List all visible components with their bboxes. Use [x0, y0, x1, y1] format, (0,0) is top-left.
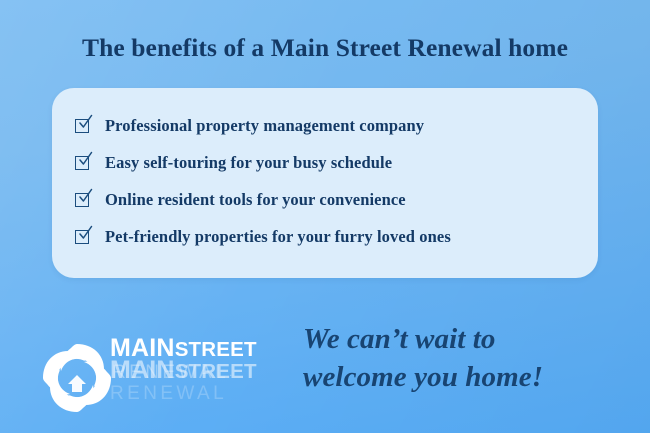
renewal-period: . — [229, 367, 235, 379]
wordmark-main: MAIN — [110, 334, 175, 362]
list-item-label: Easy self-touring for your busy schedule — [105, 155, 392, 172]
list-item: Online resident tools for your convenien… — [52, 182, 598, 219]
checkbox-checked-icon — [75, 155, 92, 172]
list-item-label: Online resident tools for your convenien… — [105, 192, 406, 209]
benefits-list: Professional property management company… — [52, 108, 598, 256]
list-item: Easy self-touring for your busy schedule — [52, 145, 598, 182]
brand-wordmark: MAINSTREET RENEWAL. — [110, 336, 290, 361]
tagline-line-2: welcome you home! — [303, 359, 543, 397]
page-title: The benefits of a Main Street Renewal ho… — [0, 33, 650, 63]
brand-logo: MAINSTREET RENEWAL MAINSTREET RENEWAL. — [38, 332, 288, 424]
wordmark-street: STREET — [175, 338, 257, 361]
benefits-card: Professional property management company… — [52, 88, 598, 278]
list-item: Professional property management company — [52, 108, 598, 145]
tagline: We can’t wait to welcome you home! — [303, 321, 543, 397]
checkbox-checked-icon — [75, 192, 92, 209]
list-item: Pet-friendly properties for your furry l… — [52, 219, 598, 256]
mainstreet-pinwheel-logo-icon — [38, 334, 116, 420]
brand-renewal: RENEWAL. — [112, 362, 236, 384]
list-item-label: Professional property management company — [105, 118, 424, 135]
checkbox-checked-icon — [75, 229, 92, 246]
brand-wordmark-text: MAINSTREET — [110, 336, 290, 361]
brand-renewal-ghost: RENEWAL — [110, 383, 290, 405]
checkbox-checked-icon — [75, 118, 92, 135]
tagline-line-1: We can’t wait to — [303, 321, 543, 359]
list-item-label: Pet-friendly properties for your furry l… — [105, 229, 451, 246]
